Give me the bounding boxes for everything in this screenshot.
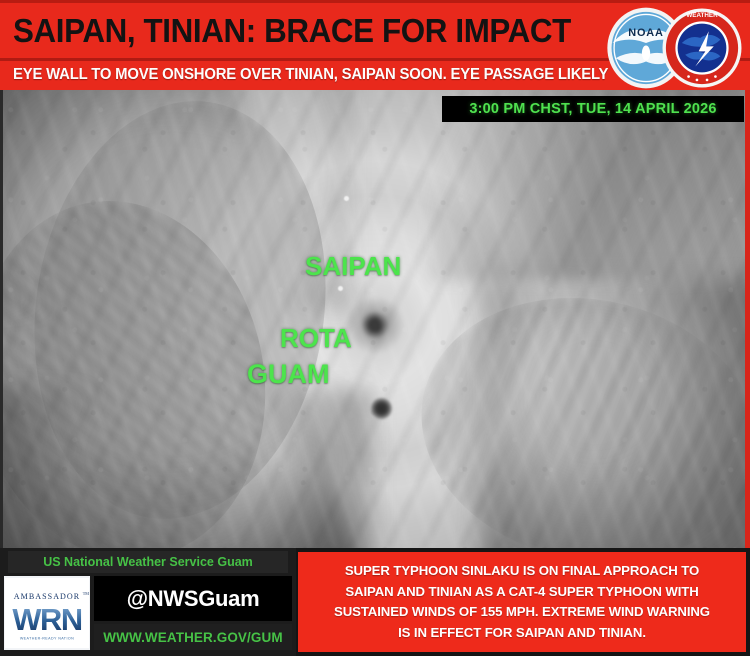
agency-label: US National Weather Service Guam <box>8 551 288 573</box>
alert-message-panel: SUPER TYPHOON SINLAKU IS ON FINAL APPROA… <box>298 552 746 652</box>
svg-text:WEATHER: WEATHER <box>686 12 718 19</box>
right-frame-edge <box>745 90 750 548</box>
page-title: SAIPAN, TINIAN: BRACE FOR IMPACT <box>13 9 583 53</box>
alert-line: SUSTAINED WINDS OF 155 MPH. EXTREME WIND… <box>307 602 737 623</box>
nws-logo: WEATHER <box>660 6 744 90</box>
header-subtitle: EYE WALL TO MOVE ONSHORE OVER TINIAN, SA… <box>13 63 608 87</box>
left-frame-edge <box>0 90 3 548</box>
svg-text:NOAA: NOAA <box>628 27 663 39</box>
typhoon-eye <box>371 398 392 419</box>
wrn-ambassador-logo: AMBASSADOR TM WRN WEATHER-READY NATION <box>4 576 90 650</box>
social-handle-box[interactable]: @NWSGuam <box>94 576 292 621</box>
svg-text:TM: TM <box>83 591 89 596</box>
footer-left-panel: US National Weather Service Guam AMBASSA… <box>0 548 296 656</box>
svg-text:AMBASSADOR: AMBASSADOR <box>14 592 80 601</box>
cloud-hotspot <box>344 196 349 201</box>
island-label-saipan: SAIPAN <box>305 251 401 282</box>
alert-message-text: SUPER TYPHOON SINLAKU IS ON FINAL APPROA… <box>307 561 737 643</box>
svg-text:WEATHER-READY NATION: WEATHER-READY NATION <box>20 637 74 641</box>
timestamp-badge: 3:00 PM CHST, TUE, 14 APRIL 2026 <box>442 96 744 122</box>
timestamp-text: 3:00 PM CHST, TUE, 14 APRIL 2026 <box>469 101 716 117</box>
header-banner: SAIPAN, TINIAN: BRACE FOR IMPACT EYE WAL… <box>0 0 750 93</box>
alert-line: SAIPAN AND TINIAN AS A CAT-4 SUPER TYPHO… <box>307 582 737 603</box>
website-text: WWW.WEATHER.GOV/GUM <box>103 630 282 645</box>
svg-text:WRN: WRN <box>12 602 82 637</box>
island-label-guam: GUAM <box>247 359 330 390</box>
island-label-rota: ROTA <box>280 323 352 354</box>
satellite-image: SAIPAN ROTA GUAM 3:00 PM CHST, TUE, 14 A… <box>0 90 750 548</box>
social-handle-text: @NWSGuam <box>127 586 260 612</box>
agency-name: US National Weather Service Guam <box>43 555 253 569</box>
website-box[interactable]: WWW.WEATHER.GOV/GUM <box>94 624 292 650</box>
alert-line: IS IN EFFECT FOR SAIPAN AND TINIAN. <box>307 623 737 644</box>
satellite-cloud-layer <box>0 90 750 548</box>
footer-bar: US National Weather Service Guam AMBASSA… <box>0 548 750 656</box>
image-grain <box>0 90 750 548</box>
cloud-hotspot <box>338 286 343 291</box>
alert-line: SUPER TYPHOON SINLAKU IS ON FINAL APPROA… <box>307 561 737 582</box>
typhoon-warning-graphic: SAIPAN, TINIAN: BRACE FOR IMPACT EYE WAL… <box>0 0 750 656</box>
agency-logos: NOAA WEATHER <box>604 3 746 93</box>
